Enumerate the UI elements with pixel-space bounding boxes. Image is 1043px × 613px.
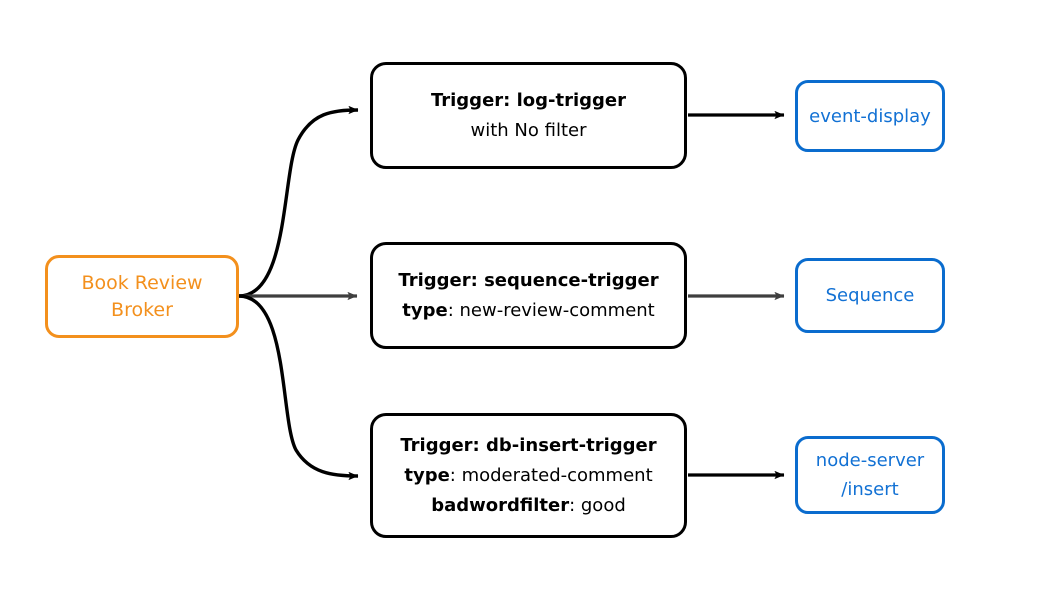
service-label-line1: event-display (809, 102, 931, 131)
trigger-line-3: badwordfilter: good (431, 491, 626, 521)
node-service-sequence[interactable]: Sequence (795, 258, 945, 333)
trigger-line-1: Trigger: sequence-trigger (398, 266, 658, 296)
node-service-node-server-insert[interactable]: node-server /insert (795, 436, 945, 514)
service-label-line1: node-server (816, 446, 924, 475)
service-label-line2: /insert (841, 475, 898, 504)
node-trigger-sequence-trigger[interactable]: Trigger: sequence-trigger type: new-revi… (370, 242, 687, 349)
trigger-line-1: Trigger: log-trigger (431, 86, 626, 116)
broker-label-line2: Broker (111, 297, 173, 324)
edge-broker-to-db-insert-trigger (239, 296, 358, 476)
trigger-line-2: with No filter (471, 116, 587, 146)
edge-broker-to-log-trigger (239, 110, 358, 296)
trigger-line-2: type: new-review-comment (402, 296, 654, 326)
node-book-review-broker[interactable]: Book Review Broker (45, 255, 239, 338)
service-label-line1: Sequence (826, 281, 915, 310)
trigger-line-2: type: moderated-comment (404, 461, 652, 491)
node-service-event-display[interactable]: event-display (795, 80, 945, 152)
broker-label-line1: Book Review (81, 270, 202, 297)
node-trigger-db-insert-trigger[interactable]: Trigger: db-insert-trigger type: moderat… (370, 413, 687, 538)
node-trigger-log-trigger[interactable]: Trigger: log-trigger with No filter (370, 62, 687, 169)
trigger-line-1: Trigger: db-insert-trigger (400, 431, 656, 461)
